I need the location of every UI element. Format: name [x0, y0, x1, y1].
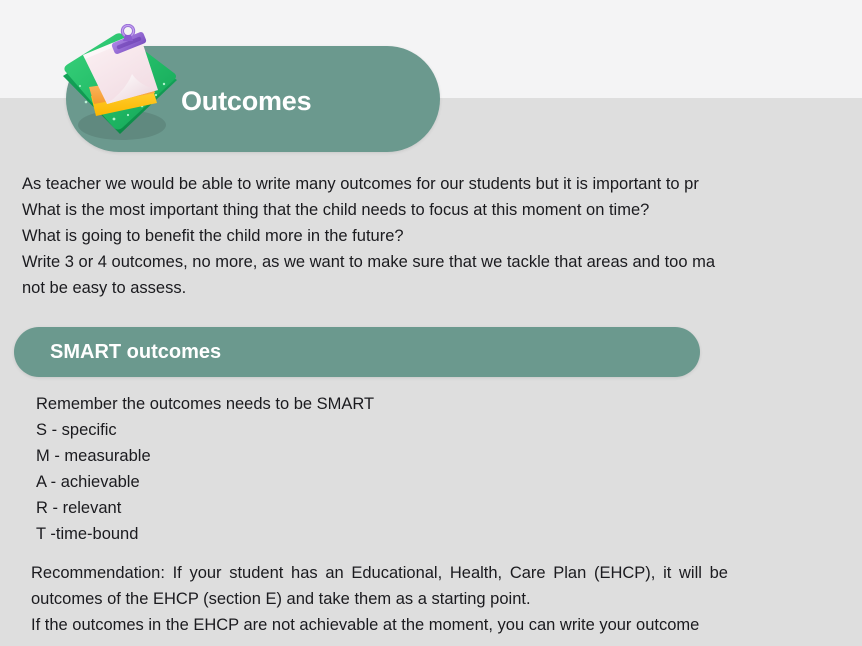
- intro-line: As teacher we would be able to write man…: [22, 171, 862, 197]
- list-item: R - relevant: [36, 495, 374, 521]
- intro-line: Write 3 or 4 outcomes, no more, as we wa…: [22, 249, 862, 275]
- list-item: T -time-bound: [36, 521, 374, 547]
- intro-line: not be easy to assess.: [22, 275, 862, 301]
- page-title: Outcomes: [181, 82, 311, 120]
- list-item: Remember the outcomes needs to be SMART: [36, 391, 374, 417]
- page-header: Outcomes: [0, 0, 862, 160]
- intro-line: What is the most important thing that th…: [22, 197, 862, 223]
- smart-outcomes-heading: SMART outcomes: [50, 338, 221, 366]
- list-item: A - achievable: [36, 469, 374, 495]
- intro-line: What is going to benefit the child more …: [22, 223, 862, 249]
- recommendation-line: If the outcomes in the EHCP are not achi…: [31, 612, 862, 638]
- list-item: S - specific: [36, 417, 374, 443]
- clipboard-icon: [56, 24, 182, 146]
- list-item: M - measurable: [36, 443, 374, 469]
- recommendation-line: Recommendation: If your student has an E…: [31, 560, 862, 586]
- recommendation-paragraph: Recommendation: If your student has an E…: [31, 560, 862, 638]
- intro-paragraph: As teacher we would be able to write man…: [22, 171, 862, 301]
- smart-outcomes-list: Remember the outcomes needs to be SMART …: [36, 391, 374, 547]
- recommendation-line: outcomes of the EHCP (section E) and tak…: [31, 586, 862, 612]
